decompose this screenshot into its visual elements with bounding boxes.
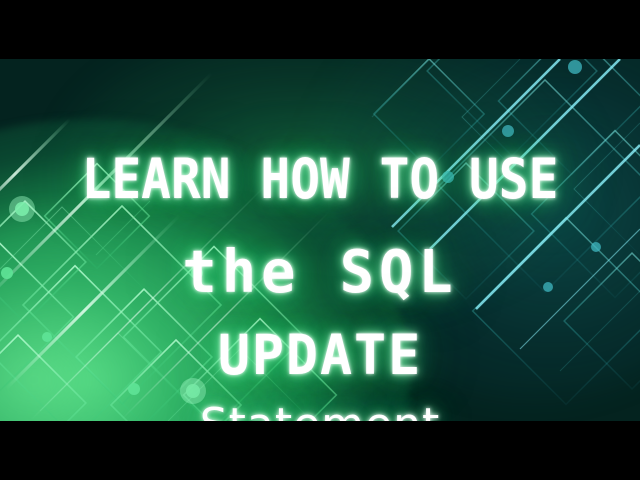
thumbnail-canvas: LEARN HOW TO USE the SQL UPDATE Statemen…: [0, 0, 640, 480]
artwork-area: LEARN HOW TO USE the SQL UPDATE Statemen…: [0, 59, 640, 421]
title-block: LEARN HOW TO USE the SQL UPDATE Statemen…: [0, 59, 640, 421]
title-line-the-sql: the SQL: [10, 239, 631, 305]
title-line-update: UPDATE: [10, 324, 631, 386]
title-line-statement: Statement: [0, 400, 640, 421]
letterbox-bar-bottom: [0, 421, 640, 480]
letterbox-bar-top: [0, 0, 640, 59]
title-line-learn-how-to-use: LEARN HOW TO USE: [32, 150, 608, 208]
